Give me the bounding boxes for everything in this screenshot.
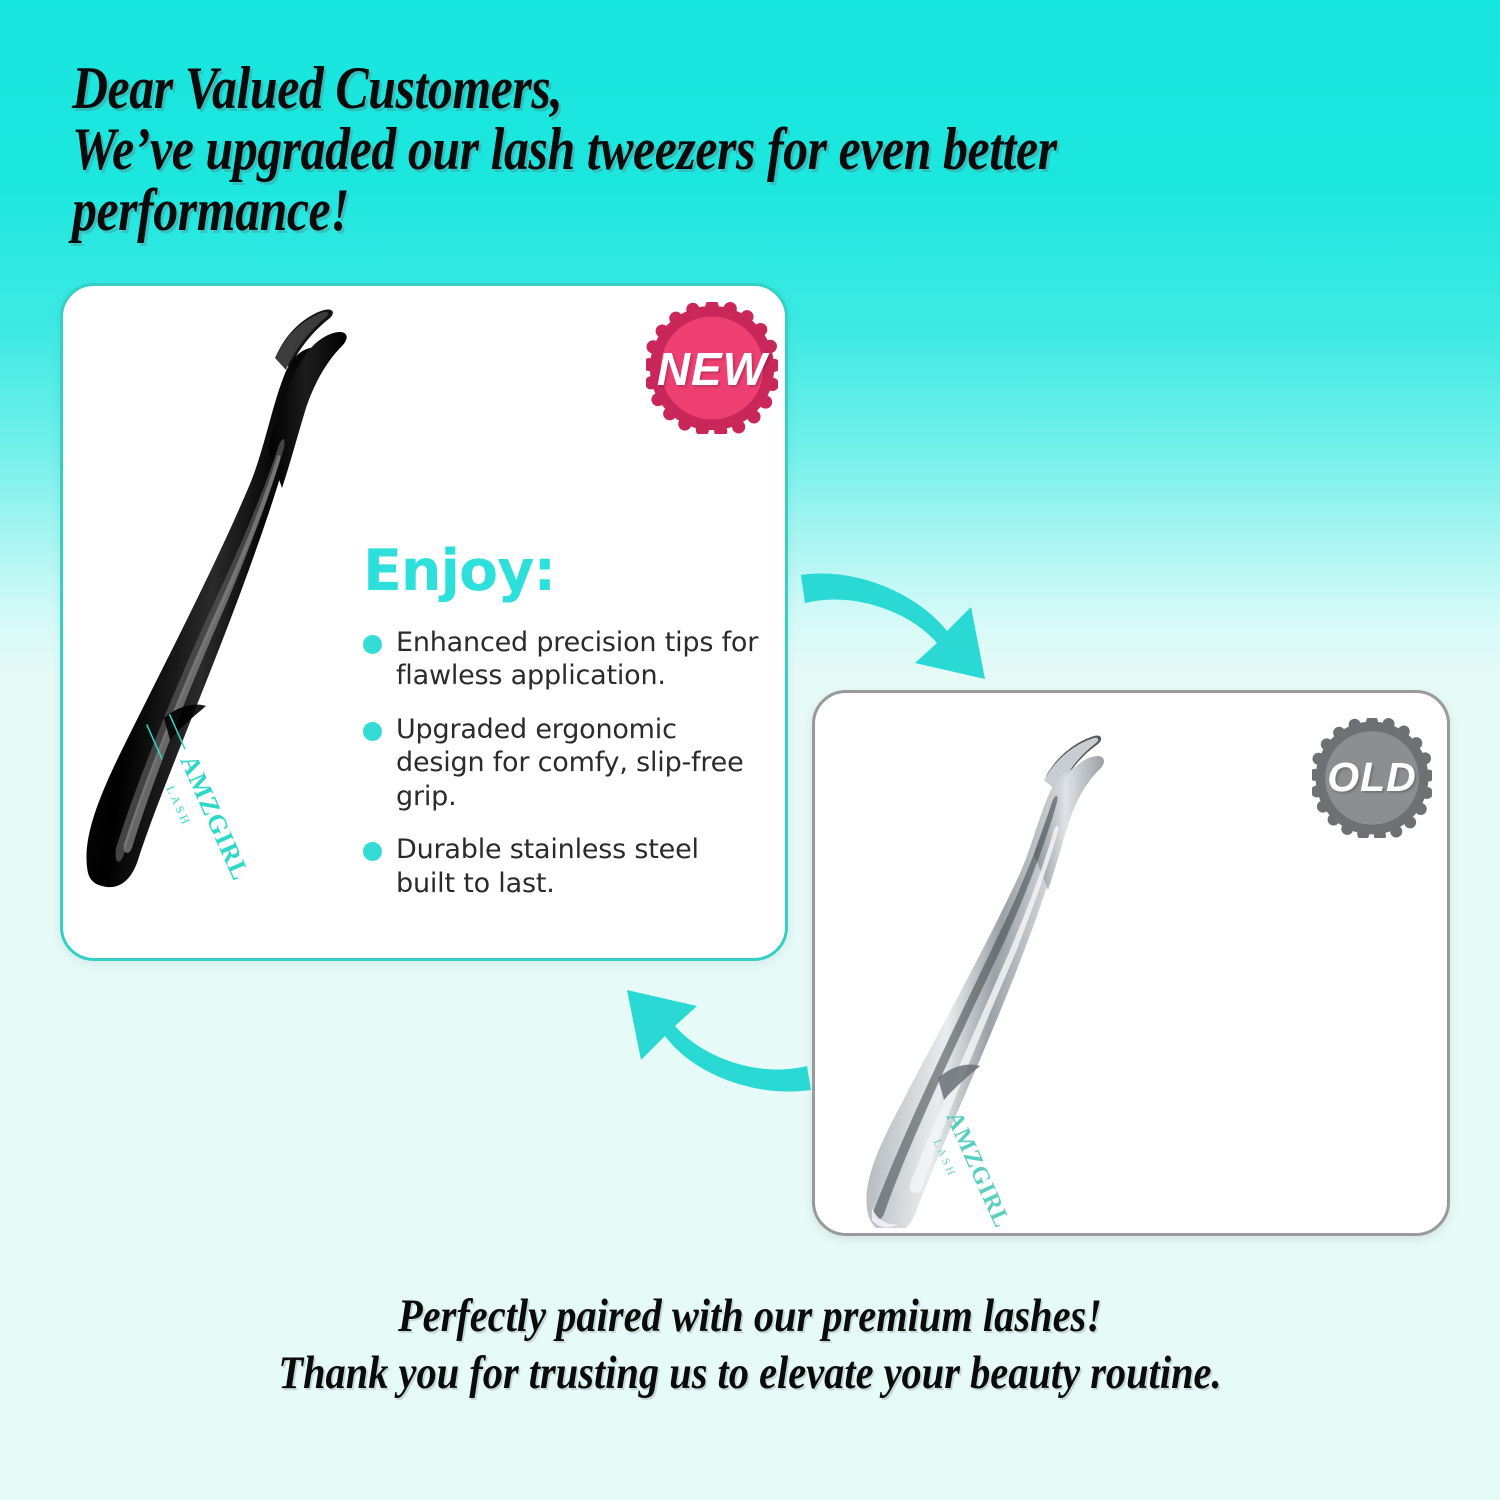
bullet-dot-icon bbox=[363, 722, 382, 741]
promo-banner: Dear Valued Customers, We’ve upgraded ou… bbox=[0, 0, 1500, 1500]
bottle-cap-icon bbox=[1312, 718, 1432, 838]
footer-line-1: Perfectly paired with our premium lashes… bbox=[105, 1288, 1395, 1345]
bullet-dot-icon bbox=[363, 635, 382, 654]
page-title: Dear Valued Customers, We’ve upgraded ou… bbox=[72, 58, 1217, 242]
feature-text: Durable stainless steel built to last. bbox=[396, 833, 763, 900]
list-item: Enhanced precision tips for flawless app… bbox=[363, 626, 763, 693]
footer-message: Perfectly paired with our premium lashes… bbox=[0, 1288, 1500, 1403]
arrow-up-left-icon bbox=[615, 982, 815, 1097]
enjoy-heading: Enjoy: bbox=[363, 543, 763, 600]
old-badge: OLD bbox=[1312, 718, 1432, 838]
feature-text: Upgraded ergonomic design for comfy, sli… bbox=[396, 713, 763, 813]
headline-line-2: We’ve upgraded our lash tweezers for eve… bbox=[72, 119, 1217, 180]
bottle-cap-icon bbox=[646, 302, 778, 434]
enjoy-section: Enjoy: Enhanced precision tips for flawl… bbox=[363, 543, 763, 920]
headline-line-3: performance! bbox=[72, 180, 1217, 241]
arrow-down-right-icon bbox=[795, 553, 1000, 683]
bullet-dot-icon bbox=[363, 842, 382, 861]
footer-line-2: Thank you for trusting us to elevate you… bbox=[105, 1345, 1395, 1402]
feature-list: Enhanced precision tips for flawless app… bbox=[363, 626, 763, 900]
list-item: Upgraded ergonomic design for comfy, sli… bbox=[363, 713, 763, 813]
old-tweezers-image: AMZGIRL LASH bbox=[850, 718, 1280, 1228]
list-item: Durable stainless steel built to last. bbox=[363, 833, 763, 900]
headline-line-1: Dear Valued Customers, bbox=[72, 58, 1217, 119]
feature-text: Enhanced precision tips for flawless app… bbox=[396, 626, 763, 693]
new-badge: NEW bbox=[646, 302, 778, 434]
